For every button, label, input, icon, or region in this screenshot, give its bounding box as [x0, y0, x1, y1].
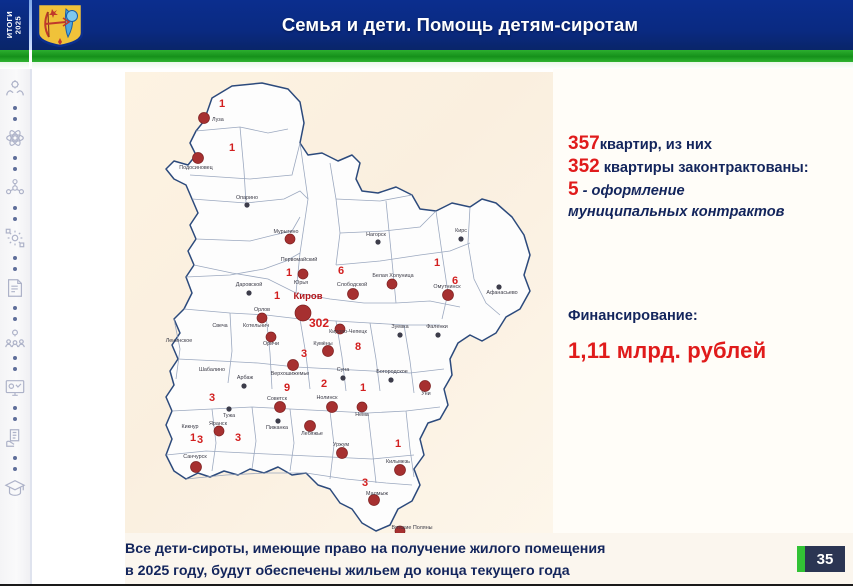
stat-number-357: 357	[568, 133, 600, 154]
logo-text: ИТОГИ 2025	[6, 11, 23, 38]
slide-root: ИТОГИ 2025 Семья и дети. Помощь детям-си…	[0, 0, 853, 586]
rail-dot	[13, 456, 17, 460]
header-underglow	[0, 62, 853, 69]
rail-dots	[13, 206, 17, 221]
stats-block: 357квартир, из них 352 квартиры законтра…	[568, 133, 853, 223]
map-city-label: Фаленки	[426, 324, 448, 330]
header-accent-bar	[0, 50, 853, 62]
stat-number-5: 5	[568, 179, 579, 200]
document-report-icon	[4, 277, 26, 299]
map-marker	[496, 284, 501, 289]
footer-line-2: в 2025 году, будут обеспечены жильем до …	[125, 560, 785, 582]
map-city-label: Вятские Поляны	[391, 525, 432, 531]
map-marker	[340, 375, 345, 380]
rail-dot	[13, 256, 17, 260]
map-value-label: 9	[284, 382, 290, 394]
map-city-label: Кумёны	[313, 341, 332, 347]
map-marker	[435, 332, 440, 337]
map-value-label: 1	[434, 257, 440, 269]
map-marker	[327, 402, 338, 413]
stat-text-2: квартиры законтрактованы:	[600, 160, 809, 176]
map-city-label: Лебяжье	[301, 431, 323, 437]
map-city-label: Юрья	[294, 280, 308, 286]
map-value-label: 3	[362, 477, 368, 489]
map-value-label: 1	[190, 432, 196, 444]
footer-line-1: Все дети-сироты, имеющие право на получе…	[125, 538, 785, 560]
hands-holding-gear-icon	[4, 77, 26, 99]
map-city-label: Котельнич	[243, 323, 269, 329]
rail-dot	[13, 467, 17, 471]
rail-dots	[13, 156, 17, 171]
map-city-label: Даровской	[236, 281, 263, 288]
map-marker	[257, 313, 267, 323]
map-city-label: Советск	[267, 396, 288, 402]
rail-dot	[13, 156, 17, 160]
map-city-label: Малмыж	[366, 491, 388, 497]
page-title-text: Семья и дети. Помощь детям-сиротам	[282, 14, 638, 36]
rail-dot	[13, 167, 17, 171]
map-city-label: Нема	[355, 412, 369, 418]
rail-dot	[13, 356, 17, 360]
map-value-label: 1	[229, 142, 235, 154]
map-panel: Луза1Подосиновец1ОпариноМурыгиноНагорскК…	[125, 72, 553, 533]
rail-dot	[13, 417, 17, 421]
map-marker	[285, 234, 295, 244]
stat-text-4: муниципальных контрактов	[568, 204, 784, 220]
map-marker	[388, 377, 393, 382]
map-city-label: Киров	[293, 291, 322, 302]
map-city-label: Оричи	[263, 341, 279, 347]
stat-text-3: - оформление	[579, 183, 685, 199]
map-city-label: Шабалино	[199, 367, 225, 373]
map-city-label: Уржум	[333, 442, 349, 448]
footer-left-background	[32, 533, 125, 586]
rail-dot	[13, 317, 17, 321]
stat-text-1: квартир, из них	[600, 137, 712, 153]
map-city-label: Белая Холуница	[372, 273, 413, 279]
team-gears-icon	[4, 327, 26, 349]
map-city-label: Тужа	[223, 413, 235, 419]
rail-dot	[13, 217, 17, 221]
map-city-label: Луза	[212, 117, 224, 123]
rail-dot	[13, 267, 17, 271]
map-city-label: Кильмезь	[386, 459, 410, 465]
map-value-label: 2	[321, 378, 327, 390]
monitor-checklist-icon	[4, 377, 26, 399]
rail-dot	[13, 206, 17, 210]
stat-line-2: 352 квартиры законтрактованы:	[568, 156, 853, 179]
map-marker	[397, 332, 402, 337]
map-city-label: Орлов	[254, 307, 270, 313]
map-value-label: 3	[301, 348, 307, 360]
map-value-label: 1	[360, 382, 366, 394]
rail-dots	[13, 356, 17, 371]
map-value-label: 3	[235, 432, 241, 444]
map-value-label: 3	[209, 392, 215, 404]
map-marker	[214, 426, 224, 436]
map-city-label: Нолинск	[317, 395, 339, 401]
rail-dot	[13, 367, 17, 371]
map-city-label: Пижанка	[266, 425, 288, 431]
rail-divider	[30, 69, 32, 586]
rail-dots	[13, 106, 17, 121]
rail-dots	[13, 456, 17, 471]
graduation-cap-icon	[4, 477, 26, 499]
map-city-label: Уни	[421, 391, 430, 397]
kirov-coat-of-arms-icon	[36, 3, 84, 47]
map-city-label: Мурыгино	[273, 229, 298, 235]
map-city-label: Кирово-Чепецк	[329, 329, 367, 335]
map-marker	[305, 421, 316, 432]
map-value-label: 1	[395, 438, 401, 450]
map-marker	[337, 448, 348, 459]
map-marker	[375, 239, 380, 244]
map-city-label: Яранск	[209, 421, 228, 427]
stat-line-1: 357квартир, из них	[568, 133, 853, 156]
map-marker	[191, 462, 202, 473]
atom-molecule-icon	[4, 127, 26, 149]
map-city-label: Богородское	[376, 369, 408, 375]
map-marker	[298, 269, 308, 279]
page-number-badge: 35	[805, 546, 845, 572]
map-city-label: Верхошижемье	[271, 371, 310, 377]
financing-label: Финансирование:	[568, 308, 853, 324]
map-marker	[395, 465, 406, 476]
financing-block: Финансирование: 1,11 млрд. рублей	[568, 308, 853, 364]
map-marker	[199, 113, 210, 124]
logo-divider-lower	[29, 50, 32, 69]
icon-rail	[0, 69, 30, 586]
gear-cog-settings-icon	[4, 227, 26, 249]
map-marker	[275, 402, 286, 413]
logo-badge: ИТОГИ 2025	[0, 0, 28, 50]
rail-dot	[13, 406, 17, 410]
page-title: Семья и дети. Помощь детям-сиротам	[110, 0, 810, 50]
stat-number-352: 352	[568, 156, 600, 177]
map-marker	[348, 289, 359, 300]
map-marker	[226, 406, 231, 411]
map-city-label: Первомайский	[281, 256, 317, 263]
map-city-label: Нагорск	[366, 232, 386, 238]
map-value-label: 6	[338, 265, 344, 277]
page-number-text: 35	[817, 551, 834, 568]
stat-line-4: муниципальных контрактов	[568, 202, 853, 223]
hand-document-icon	[4, 427, 26, 449]
map-value-label: 8	[355, 341, 361, 353]
map-city-label: Свеча	[212, 323, 227, 329]
map-city-label: Арбаж	[237, 375, 254, 381]
footer-note: Все дети-сироты, имеющие право на получе…	[125, 538, 785, 582]
rail-dots	[13, 406, 17, 421]
financing-value: 1,11 млрд. рублей	[568, 338, 853, 364]
map-city-label: Суна	[337, 367, 350, 373]
map-value-label: 302	[309, 316, 329, 330]
map-marker	[357, 402, 367, 412]
map-city-label: Кирс	[455, 228, 467, 234]
people-network-icon	[4, 177, 26, 199]
rail-dot	[13, 306, 17, 310]
rail-dot	[13, 117, 17, 121]
stat-line-3: 5 - оформление	[568, 179, 853, 202]
map-marker	[275, 418, 280, 423]
map-marker	[241, 383, 246, 388]
map-city-label: Зуевка	[391, 324, 408, 330]
map-marker	[244, 202, 249, 207]
map-marker	[458, 236, 463, 241]
map-marker	[443, 290, 454, 301]
map-city-label: Слободской	[337, 281, 367, 288]
logo-divider	[29, 0, 32, 50]
map-city-label: Опарино	[236, 195, 258, 201]
map-value-label: 1	[219, 98, 225, 110]
rail-dot	[13, 106, 17, 110]
map-city-label: Кикнур	[181, 424, 198, 430]
kirov-oblast-map: Луза1Подосиновец1ОпариноМурыгиноНагорскК…	[125, 72, 553, 533]
map-value-label: 3	[197, 434, 203, 446]
map-marker	[420, 381, 431, 392]
map-marker	[246, 290, 251, 295]
map-city-label: Подосиновец	[179, 165, 212, 171]
map-value-label: 1	[274, 290, 280, 302]
rail-dots	[13, 306, 17, 321]
rail-dots	[13, 256, 17, 271]
map-city-label: Санчурск	[183, 454, 207, 460]
map-marker	[288, 360, 299, 371]
map-marker	[387, 279, 397, 289]
map-city-label: Ленинское	[166, 338, 193, 344]
map-value-label: 6	[452, 275, 458, 287]
map-city-label: Афанасьево	[486, 290, 517, 296]
map-marker	[323, 346, 334, 357]
map-value-label: 1	[286, 267, 292, 279]
left-background	[32, 69, 125, 533]
map-marker	[193, 153, 204, 164]
